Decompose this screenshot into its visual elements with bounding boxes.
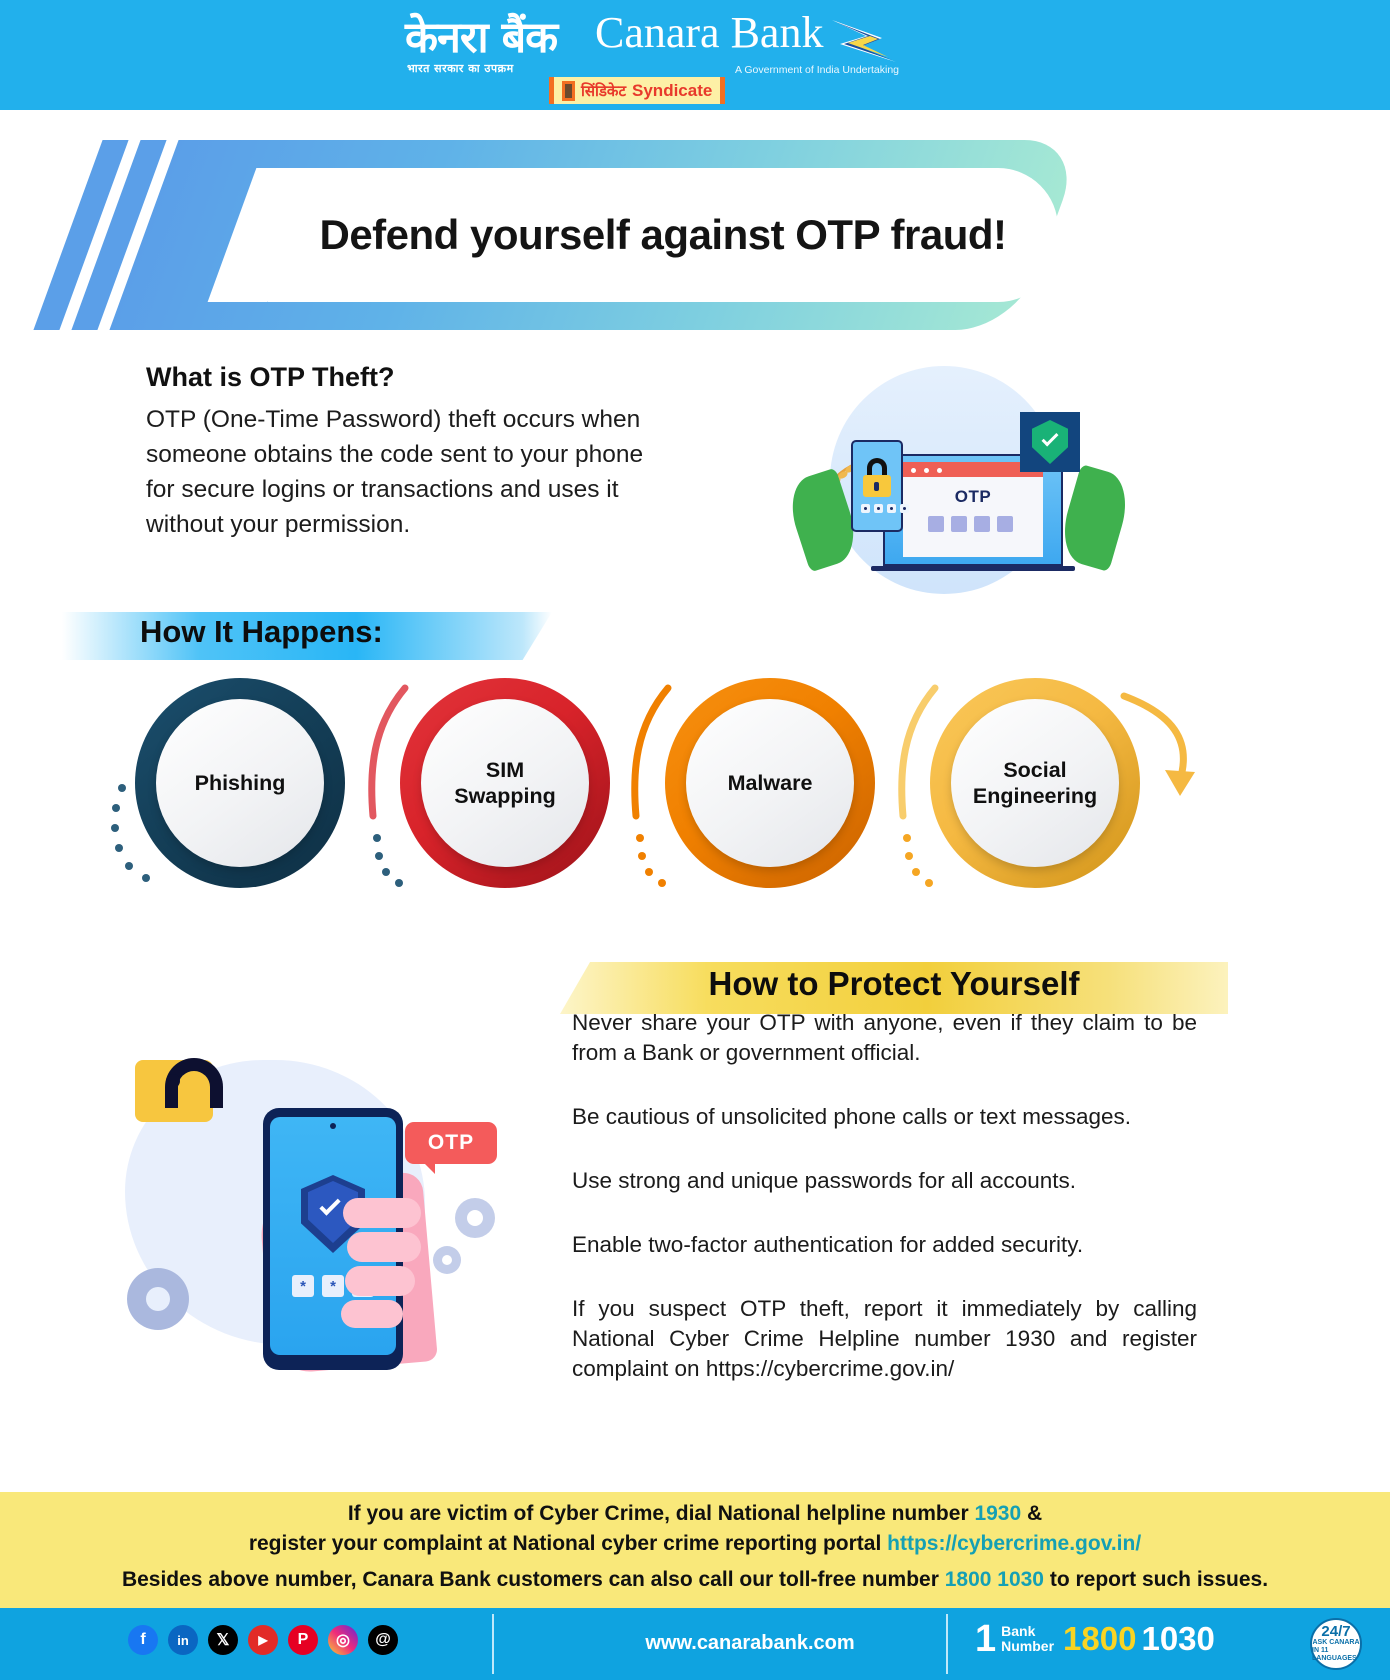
otp-badge: OTP xyxy=(405,1122,497,1164)
otp-theft-illustration: OTP xyxy=(775,362,1140,590)
footer-divider-1 xyxy=(492,1614,494,1674)
title-inner-panel: Defend yourself against OTP fraud! xyxy=(268,168,1058,302)
bank-name-english: Canara Bank xyxy=(595,7,823,58)
notice-line1-part2: & xyxy=(1021,1502,1042,1525)
protection-tips-list: Never share your OTP with anyone, even i… xyxy=(572,1008,1197,1384)
circle-label-phishing: Phishing xyxy=(195,770,286,796)
instagram-icon[interactable]: ◎ xyxy=(328,1625,358,1655)
tip-2: Be cautious of unsolicited phone calls o… xyxy=(572,1102,1197,1132)
padlock-keyhole xyxy=(166,1074,180,1088)
bank-word: Bank xyxy=(1001,1624,1054,1639)
padlock-body-icon xyxy=(863,475,891,497)
pinterest-icon[interactable]: P xyxy=(288,1625,318,1655)
circle-label-social-engineering: Social Engineering xyxy=(973,757,1097,809)
pin-dot-2 xyxy=(874,504,883,513)
ring-phishing: Phishing xyxy=(135,678,345,888)
window-dot-3 xyxy=(937,468,942,473)
footer-divider-2 xyxy=(946,1614,948,1674)
how-it-happens-heading: How It Happens: xyxy=(140,614,383,650)
bank-header: केनरा बैंक भारत सरकार का उपक्रम Canara B… xyxy=(0,0,1390,110)
youtube-icon[interactable]: ▶ xyxy=(248,1625,278,1655)
padlock-icon xyxy=(135,1060,213,1122)
bank-tagline-hindi: भारत सरकार का उपक्रम xyxy=(407,61,514,76)
number-word: Number xyxy=(1001,1639,1054,1654)
otp-illustration-label: OTP xyxy=(903,487,1043,507)
phone-camera-dot xyxy=(330,1123,336,1129)
sim-label-line2: Swapping xyxy=(454,784,556,808)
notice-line3-part2: to report such issues. xyxy=(1044,1568,1268,1591)
circle-core-malware: Malware xyxy=(686,699,854,867)
pin-box-2: * xyxy=(322,1275,344,1297)
toll-1800: 1800 xyxy=(1063,1620,1136,1658)
syndicate-badge: सिंडिकेट Syndicate xyxy=(549,77,725,104)
window-dot-2 xyxy=(924,468,929,473)
notice-line3-part1: Besides above number, Canara Bank custom… xyxy=(122,1568,945,1591)
badge-ask-canara: ASK CANARA xyxy=(1312,1639,1359,1647)
ring-malware: Malware xyxy=(665,678,875,888)
laptop-base xyxy=(871,566,1075,571)
facebook-icon[interactable]: f xyxy=(128,1625,158,1655)
phone-pin-dots xyxy=(861,504,909,513)
window-dot-1 xyxy=(911,468,916,473)
circle-item-sim-swapping[interactable]: SIM Swapping xyxy=(400,678,610,888)
circle-label-sim-swapping: SIM Swapping xyxy=(454,757,556,809)
otp-box-4 xyxy=(997,516,1013,532)
finger-3 xyxy=(345,1266,415,1296)
circle-core-sim-swapping: SIM Swapping xyxy=(421,699,589,867)
finger-1 xyxy=(343,1198,421,1228)
tip-3: Use strong and unique passwords for all … xyxy=(572,1166,1197,1196)
page-title: Defend yourself against OTP fraud! xyxy=(319,211,1006,259)
tollfree-number-1800-1030: 1800 1030 xyxy=(945,1568,1044,1591)
how-to-protect-heading: How to Protect Yourself xyxy=(560,965,1228,1003)
bank-name-hindi: केनरा बैंक xyxy=(405,6,557,65)
badge-languages: IN 11 LANGUAGES xyxy=(1312,1647,1360,1663)
how-it-happens-circles: Phishing SIM Swapping xyxy=(110,668,1200,903)
toll-one-label: 1 xyxy=(975,1622,996,1656)
threads-icon[interactable]: @ xyxy=(368,1625,398,1655)
browser-window: OTP xyxy=(903,462,1043,557)
otp-box-1 xyxy=(928,516,944,532)
toll-1030: 1030 xyxy=(1141,1620,1214,1658)
pin-dot-4 xyxy=(900,504,909,513)
bank-number-label: Bank Number xyxy=(1001,1624,1054,1654)
ring-social-engineering: Social Engineering xyxy=(930,678,1140,888)
circle-core-social-engineering: Social Engineering xyxy=(951,699,1119,867)
leaf-icon-right xyxy=(1055,464,1135,572)
intro-body: OTP (One-Time Password) theft occurs whe… xyxy=(146,402,676,542)
cyber-crime-notice-lines: If you are victim of Cyber Crime, dial N… xyxy=(0,1499,1390,1559)
x-twitter-icon[interactable]: 𝕏 xyxy=(208,1625,238,1655)
notice-line2-part1: register your complaint at National cybe… xyxy=(249,1532,887,1555)
notice-line1-part1: If you are victim of Cyber Crime, dial N… xyxy=(348,1502,975,1525)
ring-sim-swapping: SIM Swapping xyxy=(400,678,610,888)
protect-illustration: * * * OTP xyxy=(115,1030,545,1370)
gear-icon-medium xyxy=(455,1198,495,1238)
otp-input-boxes xyxy=(928,516,1013,532)
title-banner: Defend yourself against OTP fraud! xyxy=(60,140,1050,330)
syndicate-label-english: Syndicate xyxy=(632,81,712,101)
end-arrow-arc xyxy=(1110,678,1240,888)
tip-1: Never share your OTP with anyone, even i… xyxy=(572,1008,1197,1068)
pin-dot-1 xyxy=(861,504,870,513)
circle-label-malware: Malware xyxy=(728,770,813,796)
phone-shape xyxy=(851,440,903,532)
canara-bank-logo: केनरा बैंक भारत सरकार का उपक्रम Canara B… xyxy=(405,4,905,108)
toll-free-block: 1 Bank Number 1800 1030 xyxy=(975,1620,1215,1658)
cybercrime-portal-link[interactable]: https://cybercrime.gov.in/ xyxy=(887,1532,1141,1555)
sim-label-line1: SIM xyxy=(486,758,524,782)
tollfree-notice-line: Besides above number, Canara Bank custom… xyxy=(0,1568,1390,1592)
twentyfour-seven-badge: 24/7 ASK CANARA IN 11 LANGUAGES xyxy=(1310,1618,1362,1670)
otp-box-2 xyxy=(951,516,967,532)
syndicate-label-hindi: सिंडिकेट xyxy=(581,81,626,101)
social-label-line1: Social xyxy=(1003,758,1066,782)
canara-arrow-icon xyxy=(830,14,900,66)
badge-24-7-text: 24/7 xyxy=(1321,1625,1350,1639)
circle-core-phishing: Phishing xyxy=(156,699,324,867)
tip-4: Enable two-factor authentication for add… xyxy=(572,1230,1197,1260)
linkedin-icon[interactable]: in xyxy=(168,1625,198,1655)
helpline-number-1930: 1930 xyxy=(974,1502,1021,1525)
circle-item-malware[interactable]: Malware xyxy=(665,678,875,888)
pin-dot-3 xyxy=(887,504,896,513)
gear-icon-small xyxy=(433,1246,461,1274)
finger-4 xyxy=(341,1300,403,1328)
website-url[interactable]: www.canarabank.com xyxy=(560,1632,940,1655)
otp-box-3 xyxy=(974,516,990,532)
pin-box-1: * xyxy=(292,1275,314,1297)
padlock-shackle xyxy=(165,1058,223,1108)
gear-icon-large xyxy=(127,1268,189,1330)
circle-item-social-engineering[interactable]: Social Engineering xyxy=(930,678,1140,888)
shield-panel xyxy=(1020,412,1080,472)
intro-heading: What is OTP Theft? xyxy=(146,362,395,393)
syndicate-dog-icon xyxy=(562,81,575,101)
checkmark-icon xyxy=(1042,430,1059,447)
tip-5: If you suspect OTP theft, report it imme… xyxy=(572,1294,1197,1384)
shield-check-icon xyxy=(1032,420,1068,464)
social-media-links: f in 𝕏 ▶ P ◎ @ xyxy=(128,1625,398,1655)
finger-2 xyxy=(347,1232,421,1262)
circle-item-phishing[interactable]: Phishing xyxy=(135,678,345,888)
social-label-line2: Engineering xyxy=(973,784,1097,808)
